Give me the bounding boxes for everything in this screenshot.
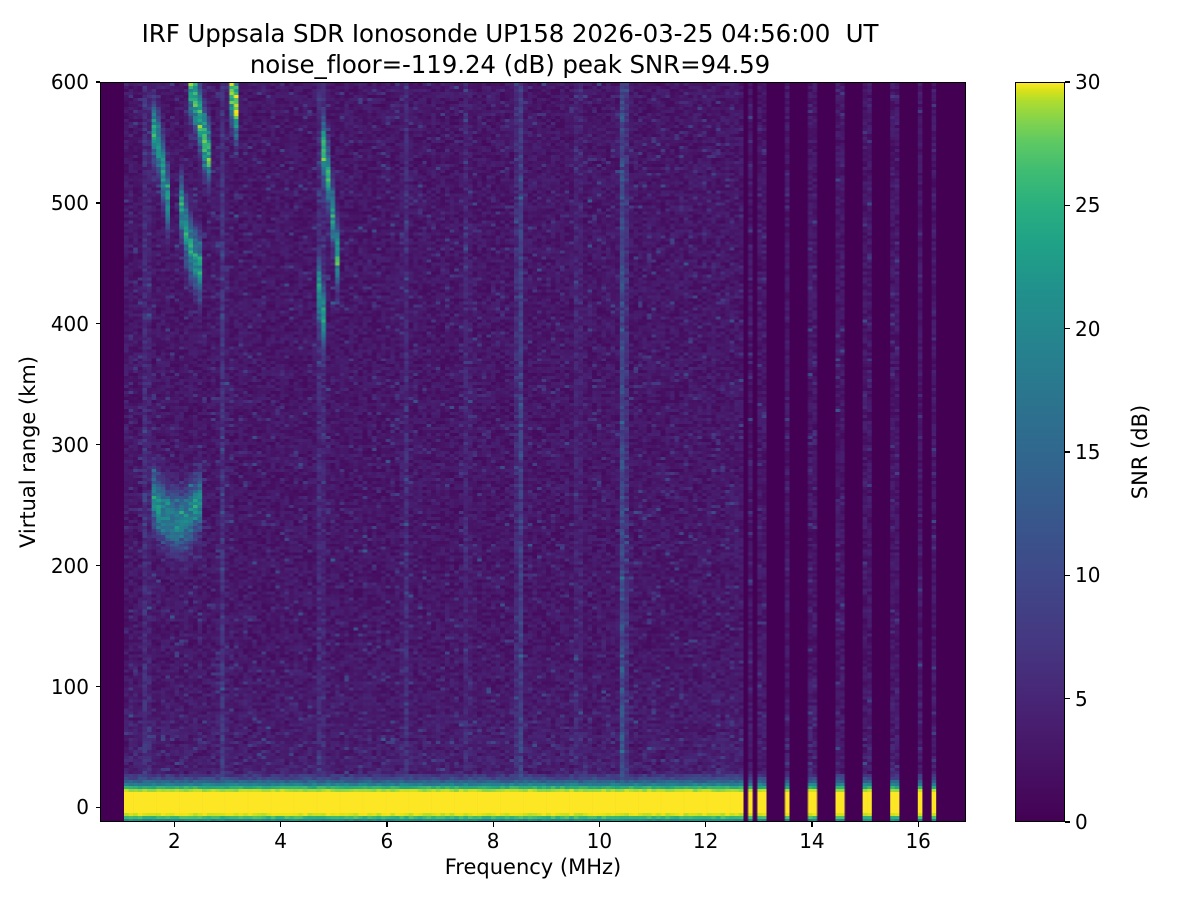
colorbar-label: SNR (dB) bbox=[1128, 405, 1152, 499]
y-axis-tick-label: 400 bbox=[51, 312, 89, 336]
x-axis-tick-label: 8 bbox=[487, 829, 500, 853]
y-axis-tick-mark bbox=[96, 202, 101, 203]
colorbar-tick-label: 25 bbox=[1075, 193, 1100, 217]
x-axis-tick-mark bbox=[493, 822, 494, 827]
x-axis-tick-label: 4 bbox=[274, 829, 287, 853]
x-axis-tick-mark bbox=[280, 822, 281, 827]
colorbar-tick-label: 30 bbox=[1075, 70, 1100, 94]
y-axis-tick-mark bbox=[96, 807, 101, 808]
colorbar-tick-mark bbox=[1065, 575, 1070, 576]
x-axis-tick-label: 2 bbox=[168, 829, 181, 853]
x-axis-label: Frequency (MHz) bbox=[100, 855, 966, 879]
title-line-2: noise_floor=-119.24 (dB) peak SNR=94.59 bbox=[0, 49, 1020, 80]
y-axis-tick-label: 500 bbox=[51, 191, 89, 215]
y-axis-tick-label: 600 bbox=[51, 70, 89, 94]
ionogram-plot-area[interactable] bbox=[100, 82, 966, 822]
figure-title: IRF Uppsala SDR Ionosonde UP158 2026-03-… bbox=[0, 18, 1020, 80]
y-axis-tick-mark bbox=[96, 444, 101, 445]
x-axis-tick-mark bbox=[599, 822, 600, 827]
y-axis-tick-mark bbox=[96, 565, 101, 566]
colorbar-tick-label: 20 bbox=[1075, 317, 1100, 341]
y-axis-tick-mark bbox=[96, 323, 101, 324]
y-axis-tick-label: 0 bbox=[76, 795, 89, 819]
snr-colorbar[interactable] bbox=[1015, 82, 1065, 822]
x-axis-tick-mark bbox=[918, 822, 919, 827]
y-axis-tick-label: 300 bbox=[51, 433, 89, 457]
colorbar-tick-mark bbox=[1065, 81, 1070, 82]
x-axis-tick-mark bbox=[174, 822, 175, 827]
x-axis-tick-label: 6 bbox=[381, 829, 394, 853]
y-axis-tick-label: 200 bbox=[51, 554, 89, 578]
x-axis-tick-label: 12 bbox=[693, 829, 718, 853]
colorbar-tick-mark bbox=[1065, 821, 1070, 822]
x-axis-tick-label: 14 bbox=[799, 829, 824, 853]
x-axis-tick-mark bbox=[386, 822, 387, 827]
x-axis-tick-mark bbox=[705, 822, 706, 827]
y-axis-tick-label: 100 bbox=[51, 675, 89, 699]
colorbar-tick-label: 15 bbox=[1075, 440, 1100, 464]
colorbar-tick-mark bbox=[1065, 698, 1070, 699]
y-axis-label: Virtual range (km) bbox=[16, 356, 40, 548]
y-axis-tick-mark bbox=[96, 81, 101, 82]
y-axis-tick-mark bbox=[96, 686, 101, 687]
colorbar-tick-mark bbox=[1065, 328, 1070, 329]
x-axis-tick-mark bbox=[811, 822, 812, 827]
title-line-1: IRF Uppsala SDR Ionosonde UP158 2026-03-… bbox=[0, 18, 1020, 49]
x-axis-tick-label: 16 bbox=[905, 829, 930, 853]
colorbar-tick-label: 0 bbox=[1075, 810, 1088, 834]
x-axis-tick-label: 10 bbox=[587, 829, 612, 853]
colorbar-tick-mark bbox=[1065, 205, 1070, 206]
colorbar-tick-label: 10 bbox=[1075, 563, 1100, 587]
colorbar-tick-label: 5 bbox=[1075, 687, 1088, 711]
colorbar-tick-mark bbox=[1065, 451, 1070, 452]
ionogram-figure: IRF Uppsala SDR Ionosonde UP158 2026-03-… bbox=[0, 0, 1200, 900]
ionogram-heatmap-canvas bbox=[101, 83, 965, 821]
